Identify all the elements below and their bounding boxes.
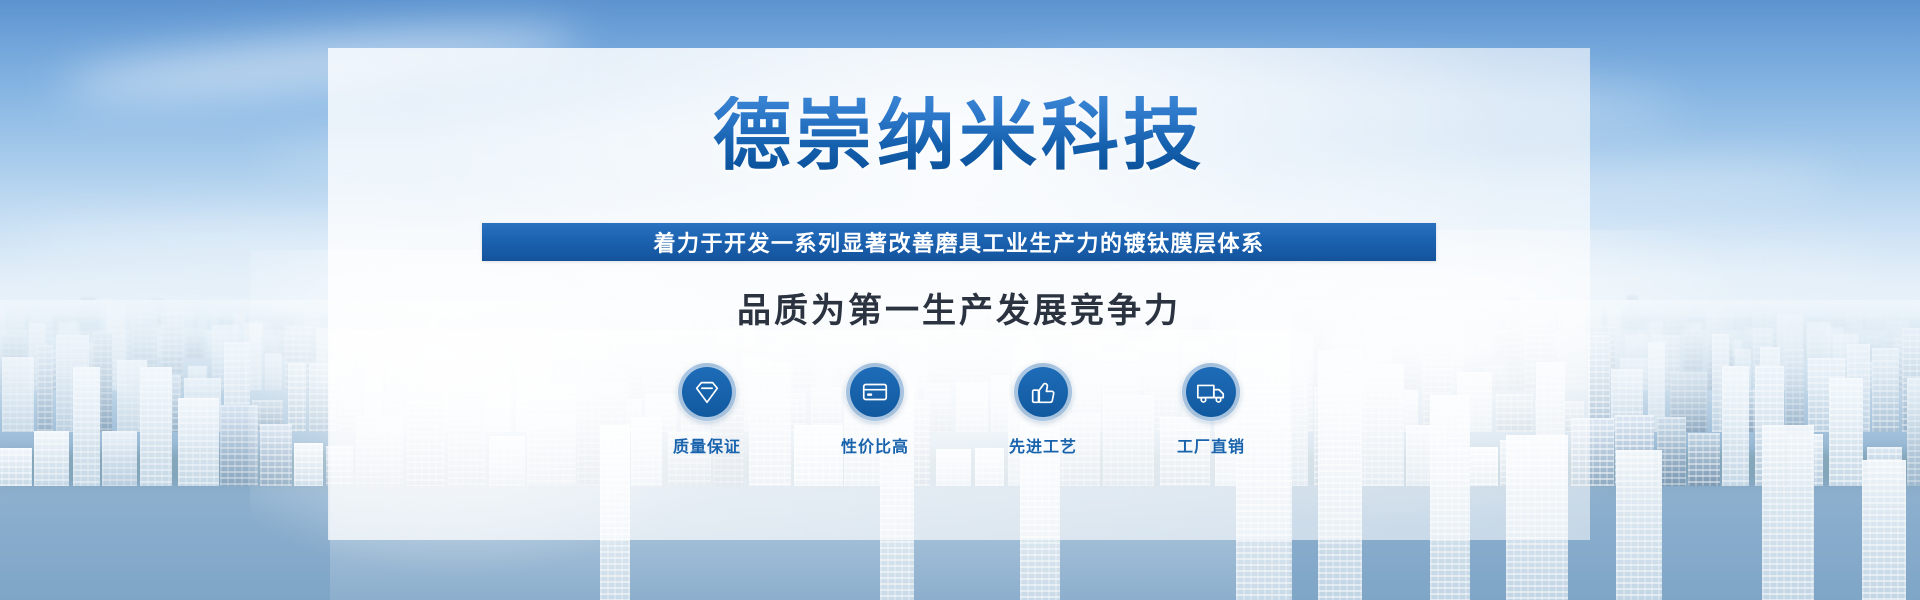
building-windows xyxy=(2,357,34,432)
building xyxy=(1688,433,1720,486)
building-windows xyxy=(220,405,258,486)
building xyxy=(1785,349,1804,432)
building xyxy=(1872,348,1899,432)
building xyxy=(102,431,137,486)
building xyxy=(1625,334,1648,358)
page-title: 德崇纳米科技 xyxy=(328,96,1590,174)
building xyxy=(1866,315,1883,337)
diamond-icon xyxy=(678,363,736,421)
feature-item-factory-direct[interactable]: 工厂直销 xyxy=(1151,363,1271,457)
building xyxy=(140,367,172,486)
landmark-tower xyxy=(1862,460,1906,600)
building-windows xyxy=(73,367,100,486)
building xyxy=(288,363,306,432)
building-windows xyxy=(140,367,172,486)
building-windows xyxy=(294,443,323,486)
building xyxy=(2,357,34,432)
building xyxy=(34,431,69,486)
building-windows xyxy=(1722,366,1749,486)
building-windows xyxy=(260,424,292,486)
building-windows xyxy=(1724,314,1734,337)
credit-card-icon xyxy=(846,363,904,421)
building-windows xyxy=(1829,378,1863,486)
building-windows xyxy=(34,431,69,486)
building-windows xyxy=(102,431,137,486)
building xyxy=(220,405,258,486)
landmark-tower xyxy=(1762,425,1814,600)
feature-label: 工厂直销 xyxy=(1177,433,1245,457)
building xyxy=(1907,378,1920,486)
building-windows xyxy=(1616,450,1662,600)
building-windows xyxy=(1866,315,1883,337)
hero-banner: 德崇纳米科技 着力于开发一系列显著改善磨具工业生产力的镀钛膜层体系 品质为第一生… xyxy=(0,0,1920,600)
building xyxy=(1626,294,1638,336)
building xyxy=(186,328,203,358)
building xyxy=(178,398,219,486)
tagline-text: 着力于开发一系列显著改善磨具工业生产力的镀钛膜层体系 xyxy=(653,226,1264,258)
building xyxy=(294,443,323,486)
building-windows xyxy=(1625,334,1648,358)
feature-label: 先进工艺 xyxy=(1009,433,1077,457)
building-windows xyxy=(1907,378,1920,486)
banner-content: 德崇纳米科技 着力于开发一系列显著改善磨具工业生产力的镀钛膜层体系 品质为第一生… xyxy=(328,48,1590,540)
tagline-bar: 着力于开发一系列显著改善磨具工业生产力的镀钛膜层体系 xyxy=(482,223,1436,261)
building-windows xyxy=(1862,460,1906,600)
feature-item-value[interactable]: 性价比高 xyxy=(815,363,935,457)
building xyxy=(265,353,282,390)
building-windows xyxy=(1872,348,1899,432)
building-windows xyxy=(1688,433,1720,486)
feature-item-technology[interactable]: 先进工艺 xyxy=(983,363,1103,457)
building xyxy=(1724,314,1734,337)
building xyxy=(37,345,54,432)
building-windows xyxy=(186,328,203,358)
feature-label: 质量保证 xyxy=(673,433,741,457)
building-windows xyxy=(1626,294,1638,336)
building-windows xyxy=(37,345,54,432)
feature-item-quality[interactable]: 质量保证 xyxy=(647,363,767,457)
building-windows xyxy=(1785,349,1804,432)
building-windows xyxy=(0,448,32,486)
thumbs-up-icon xyxy=(1014,363,1072,421)
building-windows xyxy=(288,363,306,432)
building-windows xyxy=(178,398,219,486)
feature-label: 性价比高 xyxy=(841,433,909,457)
building-windows xyxy=(80,296,96,336)
feature-list: 质量保证 性价比高 xyxy=(328,363,1590,457)
building-windows xyxy=(1762,425,1814,600)
slogan-text: 品质为第一生产发展竞争力 xyxy=(328,283,1590,332)
building-windows xyxy=(265,353,282,390)
delivery-truck-icon xyxy=(1182,363,1240,421)
building xyxy=(260,424,292,486)
landmark-tower xyxy=(1616,450,1662,600)
building xyxy=(0,448,32,486)
building xyxy=(80,296,96,336)
building xyxy=(73,367,100,486)
building xyxy=(1722,366,1749,486)
building xyxy=(1829,378,1863,486)
